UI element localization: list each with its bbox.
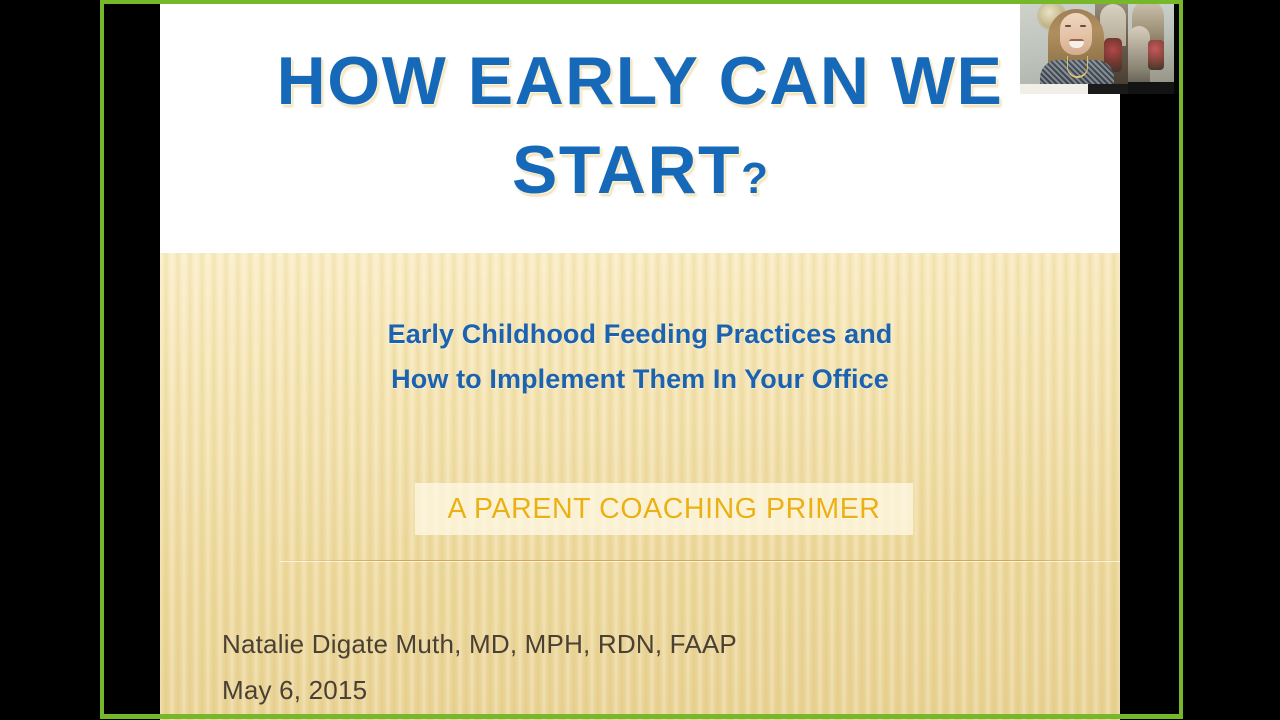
slide-title-line-1: HOW EARLY CAN WE <box>160 48 1120 115</box>
slide-title: HOW EARLY CAN WE START? <box>160 48 1120 203</box>
speaker-foreground-surface <box>1020 84 1088 94</box>
participant-background-object <box>1148 40 1164 70</box>
viewer-frame-border-right <box>1179 0 1183 719</box>
viewer-frame-border-left <box>100 0 104 719</box>
slide-tagline-text: A PARENT COACHING PRIMER <box>448 493 881 526</box>
speaker-video-tile[interactable] <box>1020 0 1128 94</box>
slide-title-question-mark: ? <box>741 154 768 203</box>
screen-capture-viewport: HOW EARLY CAN WE START? Early Childhood … <box>0 0 1280 720</box>
participant-foreground-shadow <box>1128 82 1180 94</box>
speaker-eye-left <box>1065 25 1071 27</box>
viewer-frame-border-bottom <box>100 714 1183 719</box>
slide-divider-rule <box>280 560 1120 561</box>
slide-subtitle-line-1: Early Childhood Feeding Practices and <box>160 312 1120 357</box>
speaker-face <box>1060 13 1092 55</box>
slide-title-line-2: START? <box>160 137 1120 204</box>
viewer-frame-border-top <box>100 0 1183 4</box>
slide-subtitle: Early Childhood Feeding Practices and Ho… <box>160 312 1120 403</box>
slide-tagline-highlight-band: A PARENT COACHING PRIMER <box>415 483 913 535</box>
slide-subtitle-line-2: How to Implement Them In Your Office <box>160 357 1120 402</box>
participant-video-tile[interactable] <box>1128 0 1180 94</box>
speaker-necklace <box>1067 56 1088 78</box>
video-overlay-panel[interactable] <box>1020 0 1180 94</box>
presentation-slide[interactable]: HOW EARLY CAN WE START? Early Childhood … <box>160 0 1120 720</box>
slide-title-line-2-text: START <box>512 132 741 208</box>
slide-presenter-block: Natalie Digate Muth, MD, MPH, RDN, FAAP … <box>222 622 1022 714</box>
presenter-name: Natalie Digate Muth, MD, MPH, RDN, FAAP <box>222 622 1022 668</box>
presentation-date: May 6, 2015 <box>222 668 1022 714</box>
speaker-foreground-shadow <box>1088 84 1128 94</box>
speaker-eye-right <box>1080 25 1086 27</box>
